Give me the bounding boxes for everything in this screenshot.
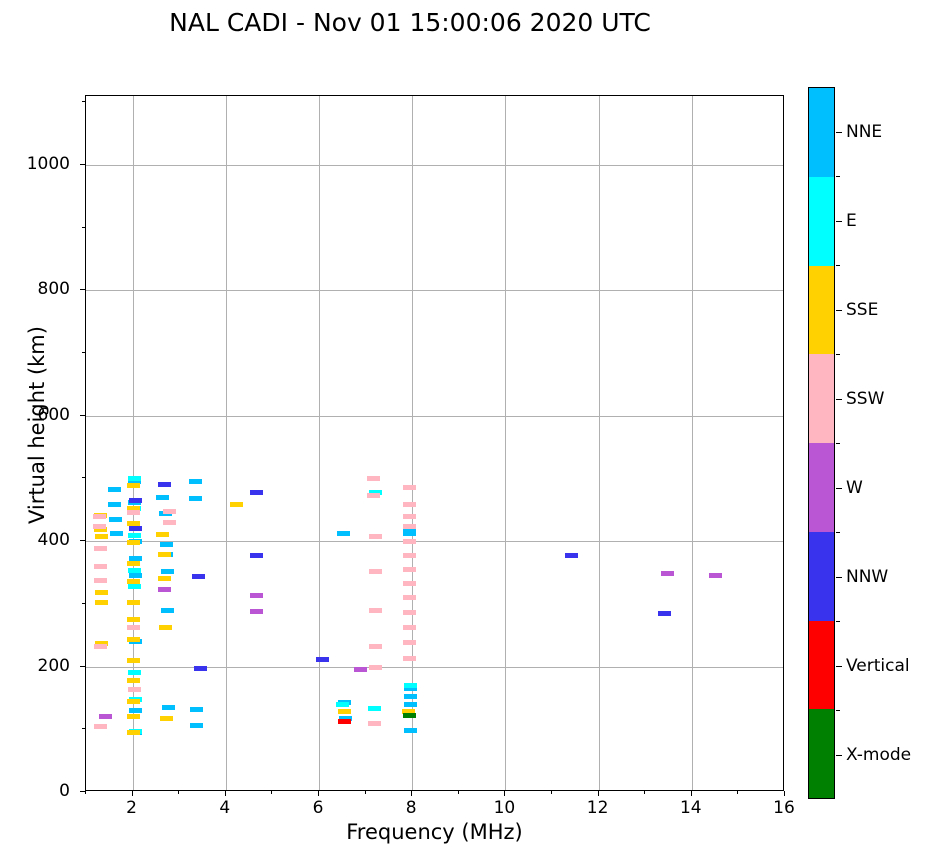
- plot-area[interactable]: [85, 95, 784, 791]
- data-point-ssw: [403, 595, 416, 600]
- data-point-w: [250, 609, 263, 614]
- data-point-ssw: [403, 656, 416, 661]
- data-point-sse: [127, 714, 140, 719]
- x-axis-minor-tick: [365, 791, 366, 794]
- gridline-horizontal: [86, 541, 783, 542]
- gridline-horizontal: [86, 165, 783, 166]
- gridline-vertical: [505, 96, 506, 790]
- data-point-sse: [230, 502, 243, 507]
- data-point-e: [128, 584, 141, 589]
- data-point-sse: [127, 540, 140, 545]
- x-axis-tick-label: 2: [126, 798, 137, 818]
- data-point-nne: [189, 479, 202, 484]
- colorbar-boundary-tick: [836, 532, 840, 533]
- data-point-ssw: [94, 724, 107, 729]
- data-point-sse: [127, 579, 140, 584]
- data-point-nne: [109, 517, 122, 522]
- colorbar-label-e: E: [846, 211, 857, 231]
- data-point-ssw: [403, 581, 416, 586]
- colorbar-boundary-tick: [836, 176, 840, 177]
- colorbar-tick: [836, 666, 842, 667]
- x-axis-minor-tick: [551, 791, 552, 794]
- data-point-e: [404, 683, 417, 688]
- data-point-nne: [108, 502, 121, 507]
- gridline-horizontal: [86, 290, 783, 291]
- data-point-nne: [162, 705, 175, 710]
- y-axis-tick-label: 1000: [27, 154, 70, 174]
- data-point-sse: [158, 576, 171, 581]
- data-point-ssw: [367, 493, 380, 498]
- data-point-sse: [127, 678, 140, 683]
- data-point-nne: [110, 531, 123, 536]
- x-axis-tick-label: 8: [406, 798, 417, 818]
- data-point-sse: [158, 552, 171, 557]
- colorbar-tick: [836, 132, 842, 133]
- colorbar-band-sse[interactable]: [809, 266, 834, 355]
- y-axis-minor-tick: [82, 728, 85, 729]
- data-point-e: [128, 568, 141, 573]
- data-point-ssw: [369, 569, 382, 574]
- data-point-ssw: [403, 567, 416, 572]
- y-axis-minor-tick: [82, 101, 85, 102]
- data-point-nne: [161, 569, 174, 574]
- data-point-nne: [161, 608, 174, 613]
- data-point-ssw: [127, 510, 140, 515]
- data-point-sse: [127, 637, 140, 642]
- y-axis-tick: [80, 666, 85, 667]
- data-point-ssw: [403, 640, 416, 645]
- x-axis-tick-label: 16: [773, 798, 795, 818]
- data-point-nne: [189, 496, 202, 501]
- y-axis-minor-tick: [82, 227, 85, 228]
- data-point-ssw: [403, 524, 416, 529]
- colorbar-tick: [836, 221, 842, 222]
- data-point-ssw: [403, 514, 416, 519]
- data-point-nne: [404, 728, 417, 733]
- data-point-sse: [127, 561, 140, 566]
- colorbar-tick: [836, 399, 842, 400]
- data-point-nne: [156, 495, 169, 500]
- colorbar-band-x-mode[interactable]: [809, 709, 834, 798]
- colorbar-tick: [836, 577, 842, 578]
- data-point-w: [250, 593, 263, 598]
- x-axis-tick: [411, 791, 412, 796]
- x-axis-minor-tick: [458, 791, 459, 794]
- x-axis-tick: [504, 791, 505, 796]
- x-axis-minor-tick: [271, 791, 272, 794]
- x-axis-tick-label: 12: [587, 798, 609, 818]
- data-point-ssw: [94, 564, 107, 569]
- colorbar[interactable]: [808, 87, 835, 799]
- x-axis-tick: [691, 791, 692, 796]
- data-point-sse: [159, 625, 172, 630]
- data-point-ssw: [94, 644, 107, 649]
- colorbar-boundary-tick: [836, 621, 840, 622]
- data-point-ssw: [367, 476, 380, 481]
- data-point-nnw: [250, 553, 263, 558]
- data-point-sse: [127, 617, 140, 622]
- colorbar-label-ssw: SSW: [846, 389, 884, 409]
- y-axis-minor-tick: [82, 477, 85, 478]
- data-point-nne: [404, 702, 417, 707]
- x-axis-minor-tick: [178, 791, 179, 794]
- data-point-nnw: [250, 490, 263, 495]
- data-point-sse: [95, 600, 108, 605]
- gridline-vertical: [226, 96, 227, 790]
- colorbar-band-nne[interactable]: [809, 88, 834, 177]
- colorbar-band-nnw[interactable]: [809, 532, 834, 621]
- data-point-nne: [403, 531, 416, 536]
- colorbar-tick: [836, 488, 842, 489]
- y-axis-tick-label: 0: [59, 781, 70, 801]
- data-point-sse: [95, 590, 108, 595]
- colorbar-label-x-mode: X-mode: [846, 745, 911, 765]
- data-point-w: [158, 587, 171, 592]
- gridline-vertical: [692, 96, 693, 790]
- data-point-ssw: [403, 502, 416, 507]
- y-axis-label: Virtual height (km): [25, 265, 49, 585]
- colorbar-label-vertical: Vertical: [846, 656, 910, 676]
- data-point-ssw: [93, 524, 106, 529]
- colorbar-boundary-tick: [836, 265, 840, 266]
- x-axis-tick-label: 6: [313, 798, 324, 818]
- data-point-sse: [160, 716, 173, 721]
- data-point-ssw: [369, 644, 382, 649]
- gridline-vertical: [319, 96, 320, 790]
- colorbar-boundary-tick: [836, 354, 840, 355]
- colorbar-band-w[interactable]: [809, 443, 834, 532]
- data-point-e: [368, 706, 381, 711]
- colorbar-label-sse: SSE: [846, 300, 878, 320]
- page-title: NAL CADI - Nov 01 15:00:06 2020 UTC: [0, 8, 820, 37]
- data-point-sse: [127, 483, 140, 488]
- data-point-ssw: [403, 485, 416, 490]
- colorbar-label-nne: NNE: [846, 122, 882, 142]
- data-point-vertical: [338, 719, 351, 724]
- data-point-nnw: [194, 666, 207, 671]
- y-axis-tick-label: 200: [38, 656, 70, 676]
- data-point-ssw: [368, 721, 381, 726]
- data-point-ssw: [369, 665, 382, 670]
- data-point-sse: [127, 699, 140, 704]
- data-point-sse: [127, 600, 140, 605]
- data-point-ssw: [163, 520, 176, 525]
- data-point-ssw: [403, 539, 416, 544]
- y-axis-minor-tick: [82, 352, 85, 353]
- data-point-w: [99, 714, 112, 719]
- data-point-e: [336, 702, 349, 707]
- x-axis-tick-label: 14: [680, 798, 702, 818]
- data-point-sse: [95, 534, 108, 539]
- data-point-nnw: [158, 482, 171, 487]
- gridline-horizontal: [86, 667, 783, 668]
- data-point-sse: [338, 709, 351, 714]
- colorbar-band-vertical[interactable]: [809, 621, 834, 710]
- x-axis-tick-label: 10: [494, 798, 516, 818]
- colorbar-tick: [836, 310, 842, 311]
- data-point-e: [128, 533, 141, 538]
- data-point-ssw: [403, 553, 416, 558]
- x-axis-tick: [318, 791, 319, 796]
- y-axis-tick: [80, 289, 85, 290]
- colorbar-label-nnw: NNW: [846, 567, 888, 587]
- data-point-ssw: [163, 509, 176, 514]
- data-point-ssw: [403, 625, 416, 630]
- data-point-e: [128, 476, 141, 481]
- data-point-ssw: [94, 546, 107, 551]
- data-point-nnw: [129, 526, 142, 531]
- data-point-nne: [129, 573, 142, 578]
- y-axis-tick: [80, 791, 85, 792]
- data-point-sse: [127, 658, 140, 663]
- data-point-e: [128, 670, 141, 675]
- ionogram-figure: NAL CADI - Nov 01 15:00:06 2020 UTC 2468…: [0, 0, 951, 856]
- y-axis-tick: [80, 164, 85, 165]
- gridline-horizontal: [86, 416, 783, 417]
- y-axis-tick: [80, 540, 85, 541]
- data-point-nne: [190, 723, 203, 728]
- x-axis-tick-label: 4: [219, 798, 230, 818]
- data-point-nne: [108, 487, 121, 492]
- x-axis-minor-tick: [644, 791, 645, 794]
- x-axis-label: Frequency (MHz): [85, 820, 784, 844]
- x-axis-tick: [598, 791, 599, 796]
- data-point-nnw: [129, 498, 142, 503]
- data-point-ssw: [128, 687, 141, 692]
- y-axis-minor-tick: [82, 603, 85, 604]
- colorbar-label-w: W: [846, 478, 863, 498]
- data-point-nnw: [565, 553, 578, 558]
- data-point-ssw: [403, 610, 416, 615]
- data-point-ssw: [369, 534, 382, 539]
- x-axis-tick: [132, 791, 133, 796]
- data-point-nne: [337, 531, 350, 536]
- data-point-sse: [127, 730, 140, 735]
- colorbar-boundary-tick: [836, 443, 840, 444]
- data-point-nnw: [316, 657, 329, 662]
- data-point-sse: [156, 532, 169, 537]
- gridline-vertical: [599, 96, 600, 790]
- data-point-x-mode: [403, 713, 416, 718]
- colorbar-boundary-tick: [836, 710, 840, 711]
- data-point-w: [709, 573, 722, 578]
- x-axis-minor-tick: [737, 791, 738, 794]
- data-point-nnw: [658, 611, 671, 616]
- data-point-ssw: [127, 625, 140, 630]
- data-point-nne: [190, 707, 203, 712]
- data-point-nnw: [192, 574, 205, 579]
- colorbar-band-e[interactable]: [809, 177, 834, 266]
- colorbar-tick: [836, 755, 842, 756]
- x-axis-tick: [225, 791, 226, 796]
- data-point-ssw: [93, 514, 106, 519]
- data-point-nne: [160, 542, 173, 547]
- data-point-ssw: [94, 578, 107, 583]
- data-point-w: [661, 571, 674, 576]
- x-axis-tick: [784, 791, 785, 796]
- colorbar-band-ssw[interactable]: [809, 354, 834, 443]
- data-point-nne: [129, 708, 142, 713]
- data-point-w: [354, 667, 367, 672]
- y-axis-tick: [80, 415, 85, 416]
- data-point-ssw: [369, 608, 382, 613]
- data-point-nne: [404, 694, 417, 699]
- x-axis-minor-tick: [85, 791, 86, 794]
